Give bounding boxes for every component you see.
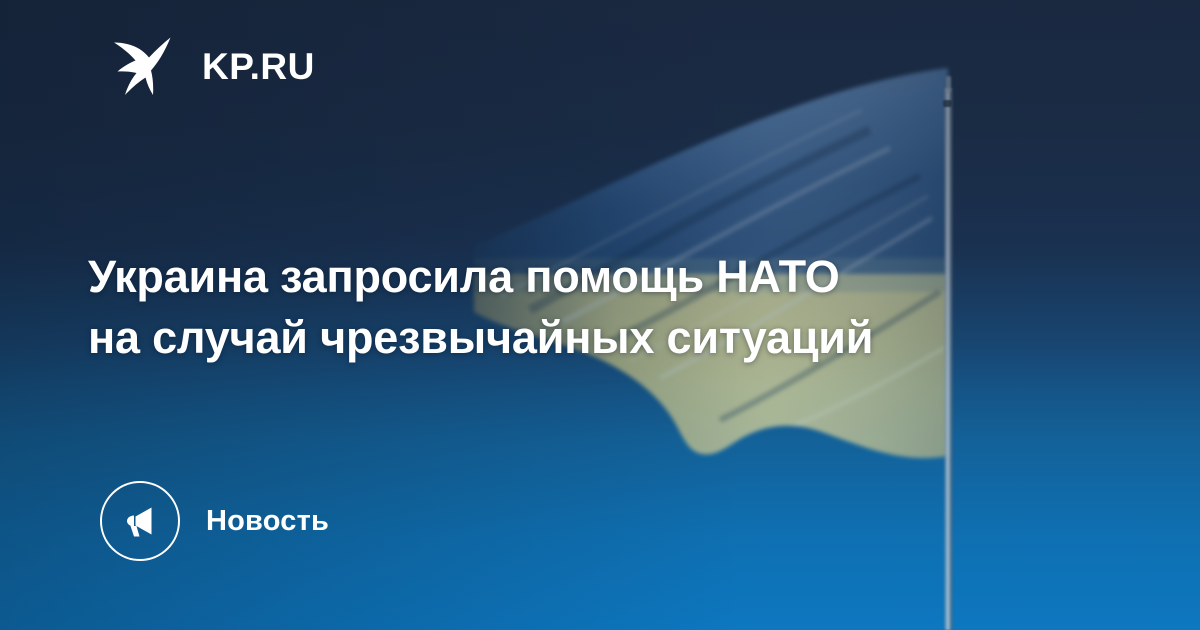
status-badge-label: Новость — [206, 507, 329, 536]
news-share-card: KP.RU Украина запросила помощь НАТО на с… — [0, 0, 1200, 630]
page-title: Украина запросила помощь НАТО на случай … — [88, 246, 1098, 368]
brand-name: KP.RU — [202, 48, 315, 85]
brand-logo[interactable]: KP.RU — [108, 30, 315, 102]
status-badge: Новость — [100, 480, 329, 562]
megaphone-icon — [100, 481, 180, 561]
swallow-bird-icon — [108, 30, 180, 102]
